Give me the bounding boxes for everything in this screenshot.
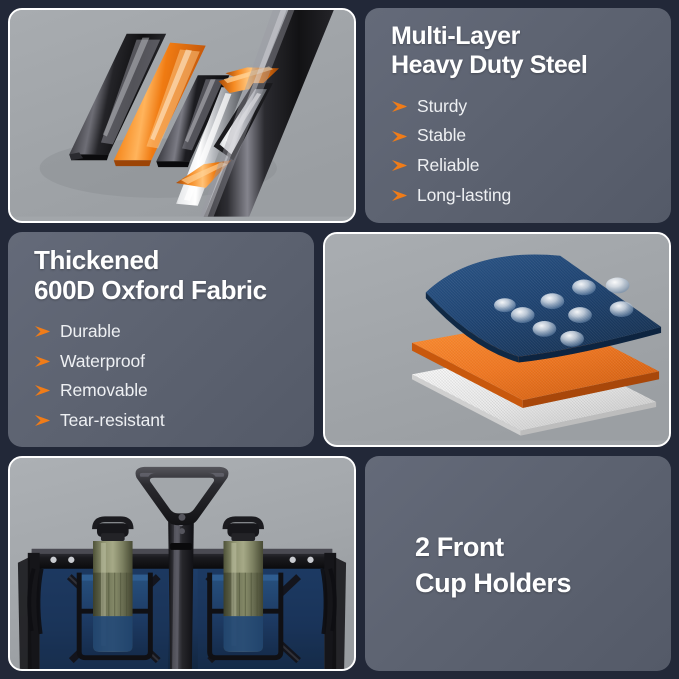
list-item: Waterproof (34, 350, 296, 374)
wagon-pull-handle-pole (168, 517, 194, 670)
list-item-label: Sturdy (417, 95, 467, 119)
list-item: Sturdy (391, 95, 653, 119)
cup-holder-illustration-panel (8, 456, 356, 671)
product-feature-infographic: Multi-Layer Heavy Duty Steel Sturdy Stab… (0, 0, 679, 679)
list-item: Removable (34, 379, 296, 403)
chevron-right-arrow-icon (34, 355, 51, 368)
wagon-cup-holder-image (10, 458, 354, 671)
list-item-label: Durable (60, 320, 121, 344)
list-item-label: Long-lasting (417, 184, 511, 208)
list-item-label: Reliable (417, 154, 479, 178)
section-headline: Thickened 600D Oxford Fabric (34, 245, 296, 306)
chevron-right-arrow-icon (34, 414, 51, 427)
section-headline: Multi-Layer Heavy Duty Steel (391, 22, 653, 81)
chevron-right-arrow-icon (391, 189, 408, 202)
list-item-label: Waterproof (60, 350, 145, 374)
list-item: Reliable (391, 154, 653, 178)
list-item-label: Tear-resistant (60, 409, 165, 433)
feature-row-cup-holders: 2 Front Cup Holders (8, 456, 671, 671)
layered-fabric-image (325, 234, 669, 441)
chevron-right-arrow-icon (391, 130, 408, 143)
list-item-label: Stable (417, 124, 466, 148)
section-headline: 2 Front Cup Holders (415, 530, 653, 600)
chevron-right-arrow-icon (391, 100, 408, 113)
feature-row-multi-layer-steel: Multi-Layer Heavy Duty Steel Sturdy Stab… (8, 8, 671, 223)
list-item: Durable (34, 320, 296, 344)
list-item-label: Removable (60, 379, 148, 403)
feature-bullet-list: Sturdy Stable Reliable (391, 95, 653, 214)
chevron-right-arrow-icon (391, 159, 408, 172)
chevron-right-arrow-icon (34, 325, 51, 338)
feature-row-oxford-fabric: Thickened 600D Oxford Fabric Durable Wat… (8, 232, 671, 447)
feature-bullet-list: Durable Waterproof Removable (34, 320, 296, 439)
steel-tube-illustration-panel (8, 8, 356, 223)
fabric-text-panel: Thickened 600D Oxford Fabric Durable Wat… (8, 232, 314, 447)
cup-holder-text-panel: 2 Front Cup Holders (365, 456, 671, 671)
list-item: Tear-resistant (34, 409, 296, 433)
steel-text-panel: Multi-Layer Heavy Duty Steel Sturdy Stab… (365, 8, 671, 223)
exploded-steel-tube-image (10, 10, 354, 217)
chevron-right-arrow-icon (34, 384, 51, 397)
list-item: Stable (391, 124, 653, 148)
list-item: Long-lasting (391, 184, 653, 208)
fabric-layers-illustration-panel (323, 232, 671, 447)
